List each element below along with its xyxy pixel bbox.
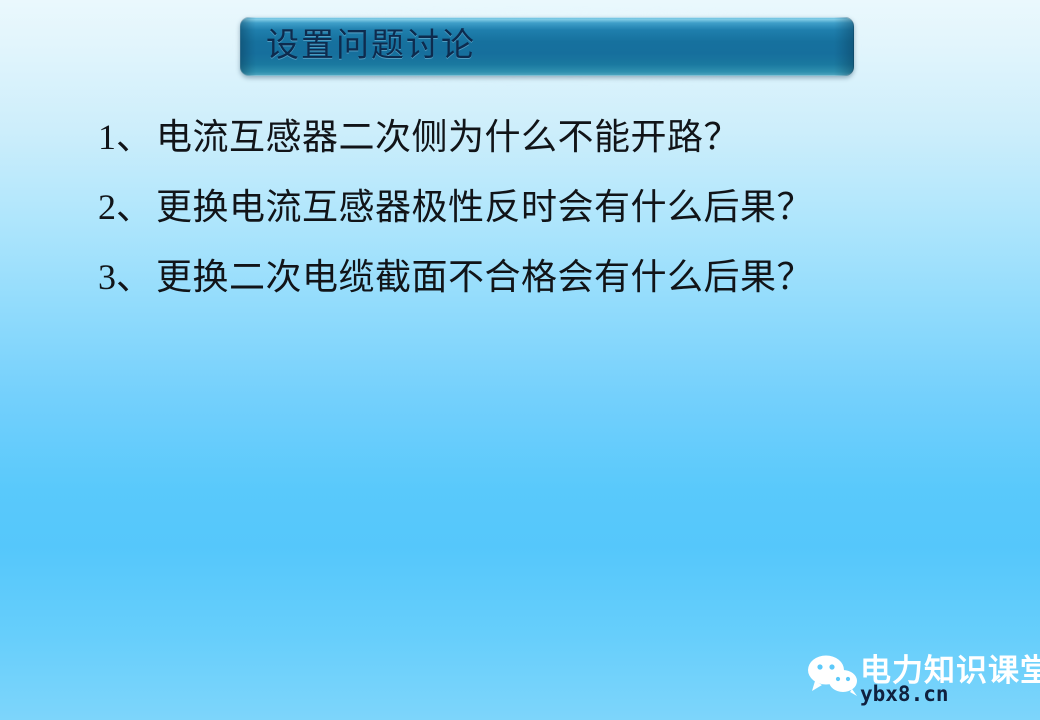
title-banner: 设置问题讨论	[236, 12, 858, 80]
question-number: 2、	[98, 172, 156, 242]
watermark-domain: ybx8.cn	[860, 682, 949, 706]
question-text: 更换二次电缆截面不合格会有什么后果？	[156, 242, 813, 312]
list-item: 1、 电流互感器二次侧为什么不能开路？	[98, 102, 998, 172]
question-text: 更换电流互感器极性反时会有什么后果？	[156, 172, 813, 242]
list-item: 3、 更换二次电缆截面不合格会有什么后果？	[98, 242, 998, 312]
question-number: 3、	[98, 242, 156, 312]
question-number: 1、	[98, 102, 156, 172]
page-title: 设置问题讨论	[266, 29, 476, 62]
title-banner-plate: 设置问题讨论	[240, 17, 854, 76]
slide-canvas: 设置问题讨论 1、 电流互感器二次侧为什么不能开路？ 2、 更换电流互感器极性反…	[0, 0, 1040, 720]
question-list: 1、 电流互感器二次侧为什么不能开路？ 2、 更换电流互感器极性反时会有什么后果…	[98, 102, 998, 312]
watermark: 电力知识课堂 ybx8.cn	[806, 650, 1034, 712]
list-item: 2、 更换电流互感器极性反时会有什么后果？	[98, 172, 998, 242]
wechat-icon	[806, 654, 862, 696]
question-text: 电流互感器二次侧为什么不能开路？	[156, 102, 740, 172]
